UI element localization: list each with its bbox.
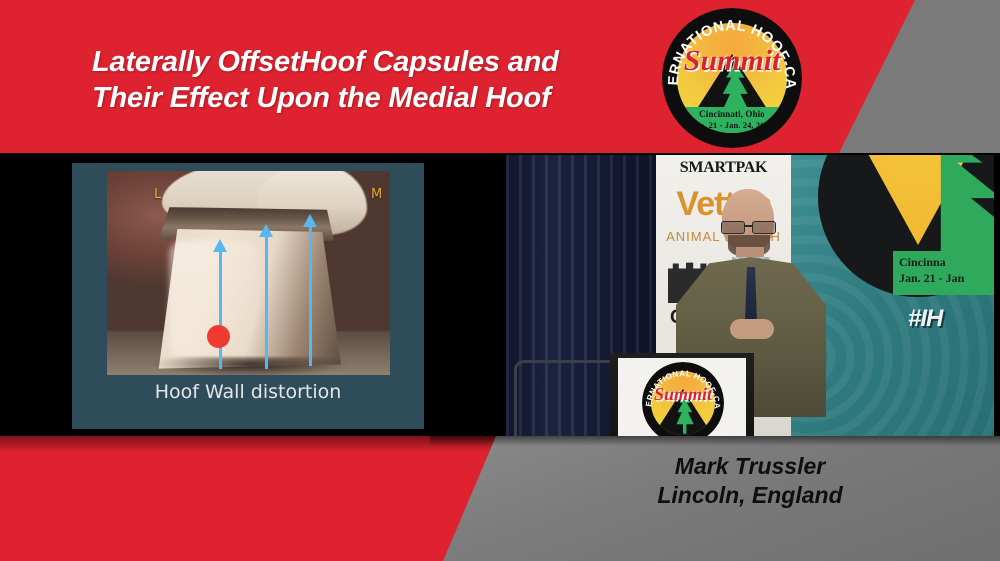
glasses-icon xyxy=(720,221,776,232)
hoof-ground-shadow xyxy=(151,357,349,375)
speaker-location-text: Lincoln, England xyxy=(560,481,940,510)
speaker-tie xyxy=(745,267,757,323)
presentation-frame: Laterally OffsetHoof Capsules and Their … xyxy=(0,0,1000,561)
sponsor-brand: SMARTPAK xyxy=(656,159,791,177)
backdrop-date: Jan. 21 - Jan xyxy=(899,271,964,286)
presentation-slide: L M Hoof Wall di xyxy=(72,163,424,429)
slide-panel[interactable]: L M Hoof Wall di xyxy=(6,155,494,436)
title-line-2: Their Effect Upon the Medial Hoof xyxy=(92,80,652,116)
distortion-arrow-2 xyxy=(259,224,273,369)
hoof-photograph: L M xyxy=(107,171,390,375)
arrow-shaft xyxy=(219,251,222,369)
arrow-shaft xyxy=(265,236,268,369)
podium-sign: INTERNATIONAL HOOF-CARE Summit xyxy=(618,358,746,436)
speaker-name-text: Mark Trussler xyxy=(560,452,940,481)
red-marker-dot xyxy=(207,325,230,348)
video-stage: L M Hoof Wall di xyxy=(0,153,1000,438)
podium-logo-summit-script: Summit xyxy=(642,384,724,405)
speaker-video-panel[interactable]: Cincinna Jan. 21 - Jan #IH SMARTPAK Vett… xyxy=(506,155,994,436)
backdrop-city: Cincinna xyxy=(899,255,946,270)
footer-gray-shadow xyxy=(430,436,1000,446)
glasses-lens-left xyxy=(721,221,745,234)
speaker-credit: Mark Trussler Lincoln, England xyxy=(560,452,940,510)
title-line-1: Laterally OffsetHoof Capsules and xyxy=(92,44,652,80)
logo-summit-script: Summit xyxy=(662,44,802,78)
glasses-lens-right xyxy=(752,221,776,234)
podium: INTERNATIONAL HOOF-CARE Summit xyxy=(610,353,754,436)
slide-caption: Hoof Wall distortion xyxy=(72,381,424,403)
backdrop-hashtag: #IH xyxy=(908,305,942,333)
arrow-shaft xyxy=(309,226,312,366)
lateral-label: L xyxy=(154,187,161,202)
medial-label: M xyxy=(371,187,382,202)
red-footer-wedge xyxy=(0,436,520,561)
footer-red-shadow xyxy=(0,436,500,452)
podium-hoof-care-summit-logo: INTERNATIONAL HOOF-CARE Summit xyxy=(642,362,724,436)
stage-rail xyxy=(514,360,613,436)
speaker-hands xyxy=(730,319,774,339)
distortion-arrow-3 xyxy=(303,214,317,366)
backdrop-green-band: Cincinna Jan. 21 - Jan xyxy=(893,251,994,295)
hoof-care-summit-logo: Cincinnati, Ohio Jan. 21 - Jan. 24, 2020… xyxy=(662,8,802,148)
distortion-arrow-1 xyxy=(213,239,227,369)
page-title: Laterally OffsetHoof Capsules and Their … xyxy=(92,44,652,116)
